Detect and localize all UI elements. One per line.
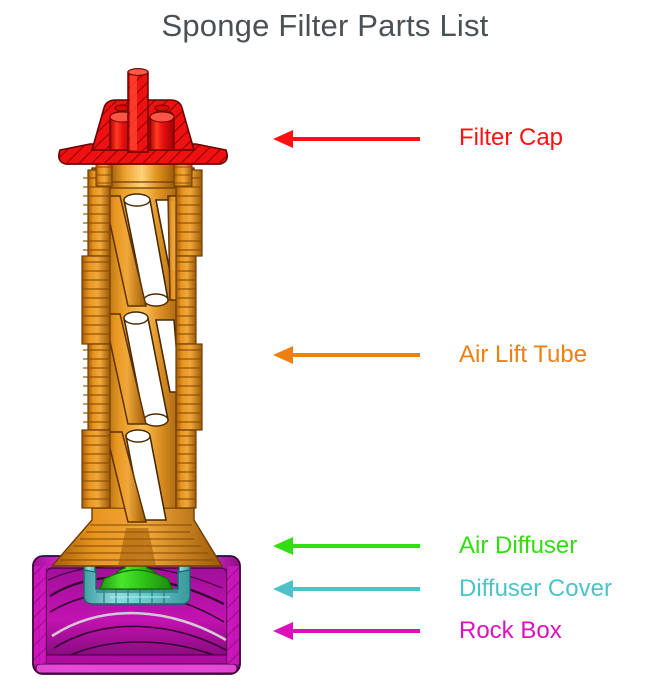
callout-arrow-rock-box: [273, 622, 420, 640]
callout-label-filter-cap: Filter Cap: [459, 126, 563, 150]
callout-label-air-lift-tube: Air Lift Tube: [459, 343, 587, 367]
diagram-canvas: Sponge Filter Parts List: [0, 0, 650, 698]
callout-arrow-air-diffuser: [273, 537, 420, 555]
callout-label-diffuser-cover: Diffuser Cover: [459, 577, 612, 601]
callout-label-air-diffuser: Air Diffuser: [459, 534, 577, 558]
callout-arrow-air-lift-tube: [273, 346, 420, 364]
callout-arrow-filter-cap: [273, 130, 420, 148]
callout-arrow-diffuser-cover: [273, 580, 420, 598]
callout-label-rock-box: Rock Box: [459, 619, 562, 643]
